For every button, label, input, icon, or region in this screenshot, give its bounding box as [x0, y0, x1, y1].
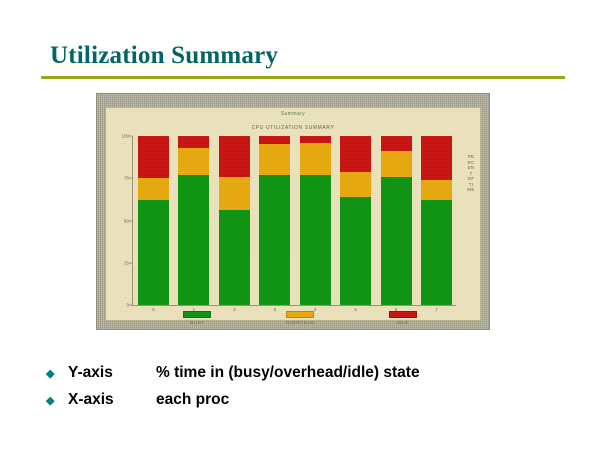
bullet-term-y-axis: Y-axis — [68, 364, 156, 382]
stacked-bar: 2 — [219, 136, 250, 305]
stacked-bar: 7 — [421, 136, 452, 305]
bar-segment-idle — [138, 136, 169, 178]
y-axis-tick-mark — [129, 262, 132, 263]
chart-screenshot-frame: Summary CPU UTILIZATION SUMMARY 10075502… — [96, 93, 490, 330]
list-item: ◆ X-axis each proc — [44, 391, 564, 409]
diamond-bullet-icon: ◆ — [44, 369, 68, 380]
bar-segment-overhead — [219, 177, 250, 211]
bar-segment-idle — [219, 136, 250, 177]
bar-group: 01234567 — [133, 136, 456, 305]
bullet-definition-y-axis: % time in (busy/overhead/idle) state — [156, 364, 564, 382]
bar-segment-idle — [178, 136, 209, 148]
x-axis-line — [132, 305, 456, 306]
legend-item-overhead: OVERHEAD — [265, 311, 335, 325]
legend-label: OVERHEAD — [265, 320, 335, 325]
stacked-bar: 5 — [340, 136, 371, 305]
y-axis-tick-mark — [129, 305, 132, 306]
legend-swatch-overhead — [286, 311, 314, 318]
page-title: Utilization Summary — [50, 42, 278, 70]
bar-segment-overhead — [259, 144, 290, 174]
y-axis-title: PERCENT OF TIME — [467, 154, 475, 193]
bar-segment-idle — [381, 136, 412, 151]
bar-segment-overhead — [340, 172, 371, 197]
legend-item-idle: IDLE — [368, 311, 438, 325]
diamond-bullet-icon: ◆ — [44, 396, 68, 407]
plot-area: 1007550250 01234567 — [132, 136, 456, 305]
stacked-bar: 0 — [138, 136, 169, 305]
bar-segment-busy — [178, 175, 209, 305]
bullet-list: ◆ Y-axis % time in (busy/overhead/idle) … — [44, 364, 564, 418]
bar-segment-overhead — [300, 143, 331, 175]
bar-segment-idle — [421, 136, 452, 180]
legend-item-busy: BUSY — [162, 311, 232, 325]
stacked-bar: 3 — [259, 136, 290, 305]
stacked-bar: 1 — [178, 136, 209, 305]
slide: Utilization Summary Summary CPU UTILIZAT… — [0, 0, 605, 467]
legend-swatch-busy — [183, 311, 211, 318]
bar-segment-overhead — [381, 151, 412, 176]
bar-segment-idle — [259, 136, 290, 144]
bullet-term-x-axis: X-axis — [68, 391, 156, 409]
y-axis-tick-mark — [129, 220, 132, 221]
bar-segment-busy — [300, 175, 331, 305]
stacked-bar: 4 — [300, 136, 331, 305]
bar-segment-busy — [219, 210, 250, 305]
bar-segment-busy — [340, 197, 371, 305]
legend-label: IDLE — [368, 320, 438, 325]
bar-segment-busy — [381, 177, 412, 305]
bar-segment-overhead — [178, 148, 209, 175]
legend-swatch-idle — [389, 311, 417, 318]
y-axis-tick-mark — [129, 136, 132, 137]
list-item: ◆ Y-axis % time in (busy/overhead/idle) … — [44, 364, 564, 382]
title-underline-rule — [41, 76, 565, 79]
bar-segment-busy — [421, 200, 452, 305]
chart-canvas: Summary CPU UTILIZATION SUMMARY 10075502… — [105, 107, 481, 321]
bar-segment-idle — [300, 136, 331, 143]
bullet-definition-x-axis: each proc — [156, 391, 564, 409]
bar-segment-overhead — [421, 180, 452, 200]
bar-segment-overhead — [138, 178, 169, 200]
chart-title: CPU UTILIZATION SUMMARY — [106, 125, 480, 131]
y-axis-tick-mark — [129, 178, 132, 179]
legend-label: BUSY — [162, 320, 232, 325]
chart-window-caption: Summary — [114, 109, 472, 120]
bar-segment-idle — [340, 136, 371, 171]
bar-segment-busy — [259, 175, 290, 305]
y-axis-tick-label: 100 — [121, 134, 129, 139]
stacked-bar: 6 — [381, 136, 412, 305]
bar-segment-busy — [138, 200, 169, 305]
chart-legend: BUSYOVERHEADIDLE — [146, 311, 454, 325]
